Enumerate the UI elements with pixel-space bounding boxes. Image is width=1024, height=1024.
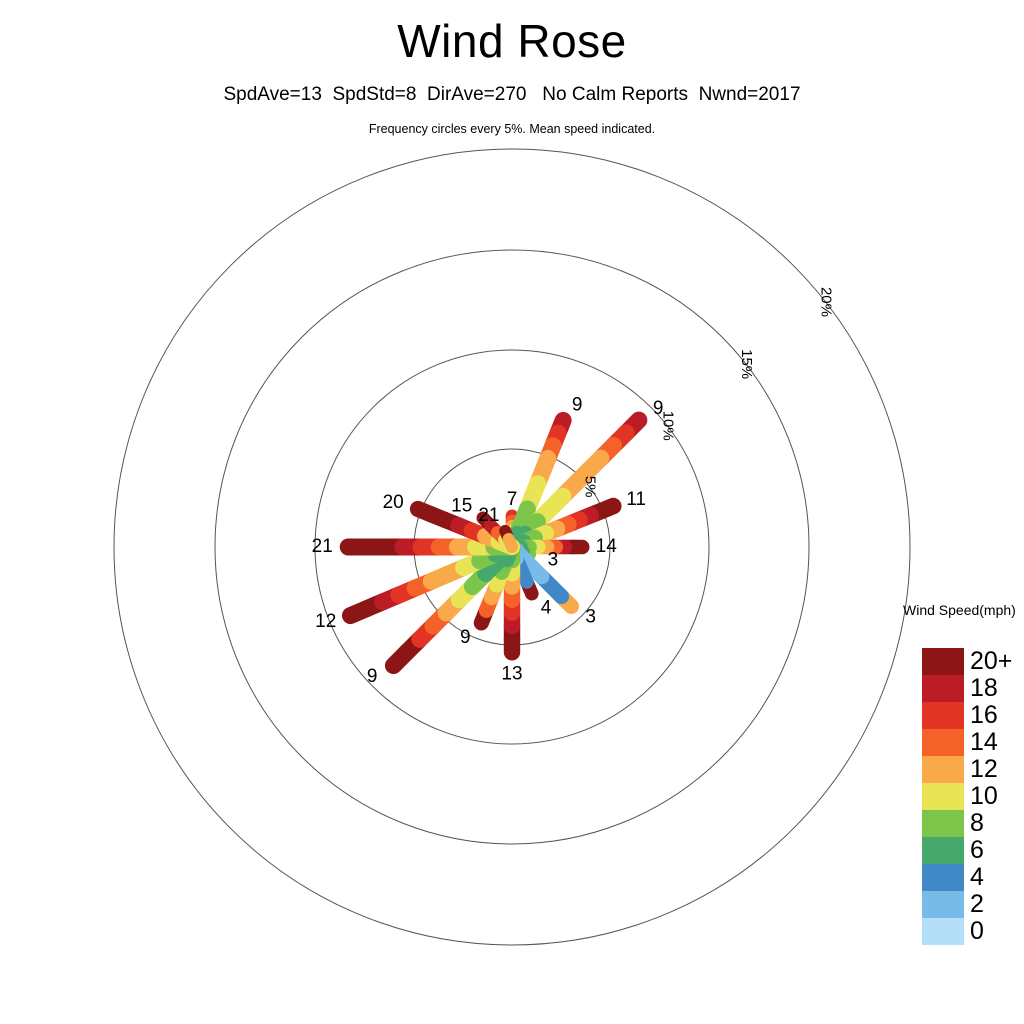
petal-mean-speed-label: 9: [367, 666, 378, 687]
petal-mean-speed-label: 9: [572, 395, 583, 416]
legend-row[interactable]: 2: [922, 891, 964, 918]
legend-color-swatch: [922, 864, 964, 891]
legend-row[interactable]: 6: [922, 837, 964, 864]
petal-mean-speed-label: 7: [507, 489, 518, 510]
legend-color-swatch: [922, 837, 964, 864]
wind-rose-page: Wind Rose SpdAve=13 SpdStd=8 DirAve=270 …: [0, 0, 1024, 1024]
legend-row[interactable]: 4: [922, 864, 964, 891]
petal-mean-speed-label: 12: [315, 611, 336, 632]
legend-color-swatch: [922, 918, 964, 945]
legend-color-swatch: [922, 702, 964, 729]
legend-label: 8: [970, 808, 1024, 838]
legend-row[interactable]: 12: [922, 756, 964, 783]
legend-label: 16: [970, 700, 1024, 730]
wind-rose-plot: 5%10%15%20% 799111433413991221201521: [0, 0, 1024, 1024]
legend-row[interactable]: 16: [922, 702, 964, 729]
petal-mean-speed-label: 20: [383, 492, 404, 513]
legend-color-swatch: [922, 729, 964, 756]
legend-row[interactable]: 18: [922, 675, 964, 702]
petal-segment: [509, 539, 512, 547]
petal-mean-speed-label: 4: [541, 597, 552, 618]
petal-mean-speed-label: 21: [478, 505, 499, 526]
petal-mean-speed-label: 3: [585, 607, 596, 628]
legend-label: 0: [970, 916, 1024, 946]
petal-mean-speed-label: 3: [548, 549, 559, 570]
petal-mean-speed-label: 13: [501, 663, 522, 684]
petal-mean-speed-label: 21: [312, 536, 333, 557]
legend-label: 20+: [970, 646, 1024, 676]
legend-label: 12: [970, 754, 1024, 784]
legend-label: 18: [970, 673, 1024, 703]
legend-row[interactable]: 20+: [922, 648, 964, 675]
wind-speed-legend[interactable]: 20+181614121086420: [922, 648, 964, 945]
legend-color-swatch: [922, 648, 964, 675]
legend-color-swatch: [922, 891, 964, 918]
petal-mean-speed-label: 9: [460, 627, 471, 648]
legend-title: Wind Speed(mph): [903, 602, 1016, 618]
legend-label: 6: [970, 835, 1024, 865]
legend-label: 10: [970, 781, 1024, 811]
petal-mean-speed-label: 15: [451, 496, 472, 517]
ring-percent-label: 20%: [818, 287, 835, 317]
legend-label: 4: [970, 862, 1024, 892]
legend-color-swatch: [922, 810, 964, 837]
legend-row[interactable]: 8: [922, 810, 964, 837]
legend-row[interactable]: 14: [922, 729, 964, 756]
petal-mean-speed-label: 14: [596, 536, 618, 557]
legend-color-swatch: [922, 783, 964, 810]
ring-percent-label: 5%: [581, 476, 598, 498]
legend-row[interactable]: 0: [922, 918, 964, 945]
legend-color-swatch: [922, 756, 964, 783]
petal-mean-speed-label: 9: [653, 398, 664, 419]
legend-color-swatch: [922, 675, 964, 702]
petal-mean-speed-label: 11: [626, 489, 646, 510]
ring-percent-label: 15%: [738, 349, 755, 379]
ring-percent-labels: 5%10%15%20%: [581, 287, 834, 498]
legend-label: 2: [970, 889, 1024, 919]
legend-label: 14: [970, 727, 1024, 757]
legend-row[interactable]: 10: [922, 783, 964, 810]
